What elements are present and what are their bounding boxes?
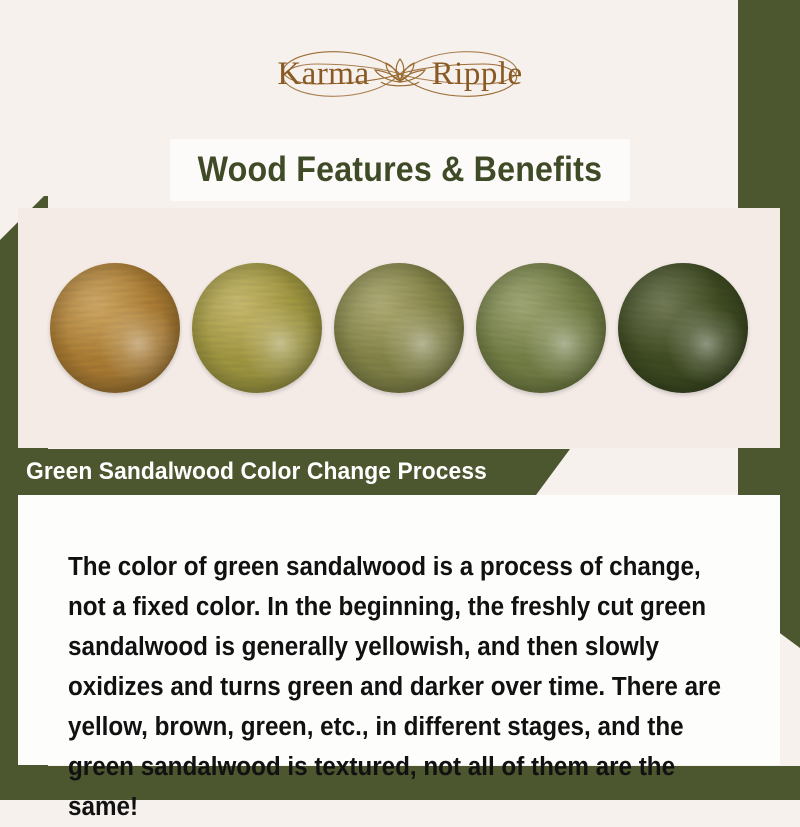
page-title: Wood Features & Benefits bbox=[198, 150, 603, 190]
section-banner-label: Green Sandalwood Color Change Process bbox=[26, 458, 487, 486]
beads-panel bbox=[18, 208, 780, 448]
body-card: The color of green sandalwood is a proce… bbox=[18, 495, 780, 765]
bead-green-stage bbox=[476, 263, 606, 393]
section-banner: Green Sandalwood Color Change Process bbox=[0, 449, 570, 495]
bead-specular-highlight bbox=[192, 263, 322, 393]
bead-row bbox=[18, 208, 780, 448]
bead-olive-green-stage bbox=[334, 263, 464, 393]
brand-name-right: Ripple bbox=[432, 56, 523, 93]
bead-specular-highlight bbox=[476, 263, 606, 393]
bead-specular-highlight bbox=[334, 263, 464, 393]
bead-freshly-cut-yellowish-brown bbox=[50, 263, 180, 393]
bead-dark-oxidized-green bbox=[618, 263, 748, 393]
poster-canvas: Karma Ripple Wood Features & Benefits Gr… bbox=[0, 0, 800, 800]
bead-specular-highlight bbox=[618, 263, 748, 393]
body-paragraph: The color of green sandalwood is a proce… bbox=[68, 547, 725, 827]
brand-logo: Karma Ripple bbox=[0, 40, 800, 108]
brand-name-left: Karma bbox=[277, 56, 369, 93]
bead-specular-highlight bbox=[50, 263, 180, 393]
bead-yellow-green-transition bbox=[192, 263, 322, 393]
title-band: Wood Features & Benefits bbox=[170, 139, 630, 201]
